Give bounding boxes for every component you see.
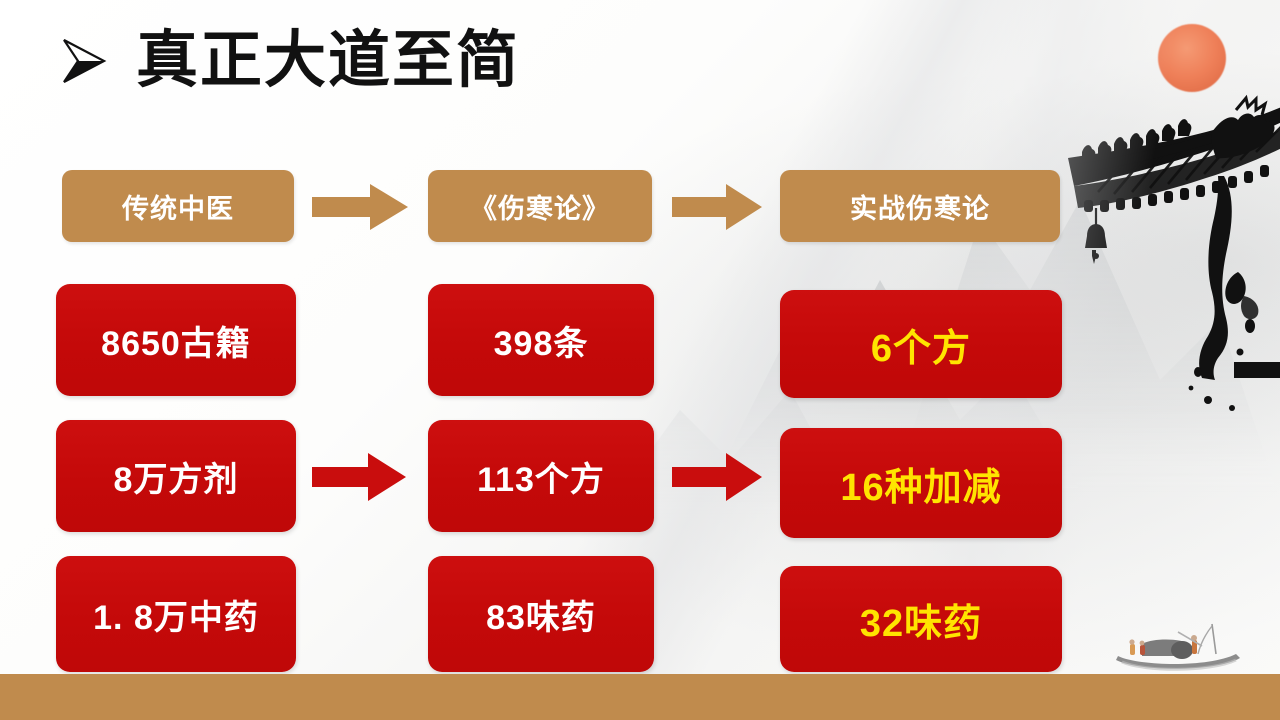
cell-col1-row1[interactable]: 8650古籍 xyxy=(56,284,296,396)
arrow-bullet-icon xyxy=(56,34,110,88)
bottom-accent-bar xyxy=(0,674,1280,720)
cell-col2-row1[interactable]: 398条 xyxy=(428,284,654,396)
ink-boat-graphic xyxy=(1112,618,1252,680)
header-box-shanghanlun[interactable]: 《伤寒论》 xyxy=(428,170,652,242)
cell-col1-row2[interactable]: 8万方剂 xyxy=(56,420,296,532)
cell-col3-row3[interactable]: 32味药 xyxy=(780,566,1062,672)
cell-col1-row3[interactable]: 1. 8万中药 xyxy=(56,556,296,672)
cell-col3-row1[interactable]: 6个方 xyxy=(780,290,1062,398)
tan-arrow-right-icon-2 xyxy=(672,183,764,231)
cell-col3-row2[interactable]: 16种加减 xyxy=(780,428,1062,538)
tan-arrow-right-icon-1 xyxy=(312,183,410,231)
header-box-practical-shanghanlun[interactable]: 实战伤寒论 xyxy=(780,170,1060,242)
ink-splash-graphic xyxy=(1178,176,1280,416)
page-title: 真正大道至简 xyxy=(56,30,520,92)
cell-col2-row2[interactable]: 113个方 xyxy=(428,420,654,532)
page-title-text: 真正大道至简 xyxy=(136,30,520,92)
cell-col2-row3[interactable]: 83味药 xyxy=(428,556,654,672)
red-arrow-right-icon-1 xyxy=(312,452,408,502)
slide-canvas: 真正大道至简 传统中医 《伤寒论》 实战伤寒论 8650古籍 8万方剂 1. 8… xyxy=(0,0,1280,720)
red-arrow-right-icon-2 xyxy=(672,452,764,502)
header-box-traditional[interactable]: 传统中医 xyxy=(62,170,294,242)
